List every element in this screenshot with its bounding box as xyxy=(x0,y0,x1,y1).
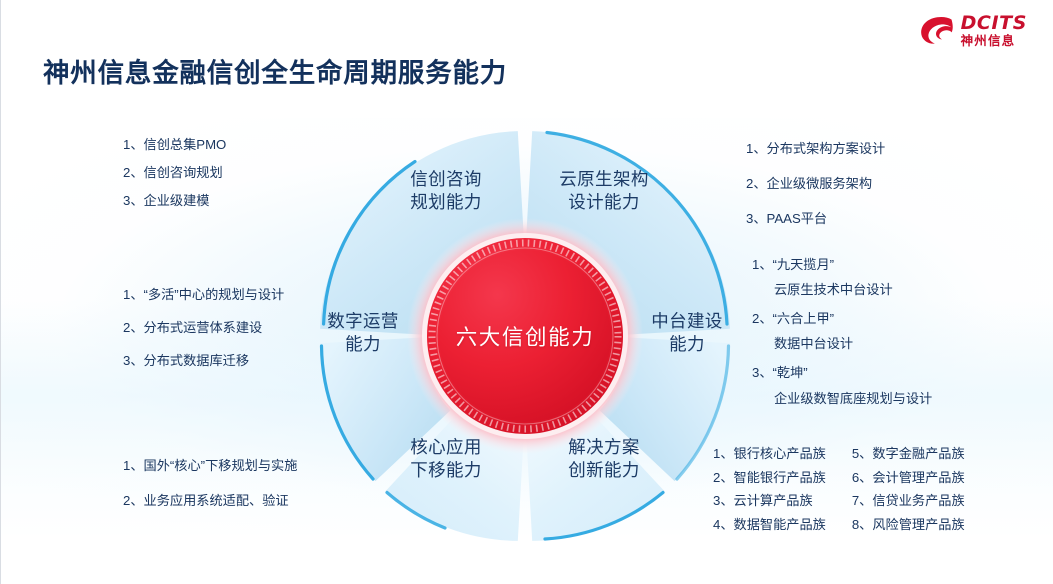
list-item: 2、 智能银行产品族 xyxy=(713,471,826,484)
swoosh-icon xyxy=(920,16,954,46)
bullet-number: 1、 xyxy=(746,142,767,155)
bullet-subtext: 数据中台设计 xyxy=(752,333,932,352)
list-item: 1、 分布式架构方案设计 xyxy=(746,142,885,155)
bullet-text: “多活”中心的规划与设计 xyxy=(144,288,285,301)
bullet-number: 2、 xyxy=(123,494,144,507)
bullet-subtext: 企业级数智底座规划与设计 xyxy=(752,388,932,407)
bullet-number: 1、 xyxy=(123,288,144,301)
bullet-text: 智能银行产品族 xyxy=(734,471,826,484)
logo-english: DCITS xyxy=(961,14,1027,33)
bullet-text: “六合上甲” xyxy=(773,312,933,325)
list-item: 2、 企业级微服务架构 xyxy=(746,177,885,190)
list-item: 3、 PAAS平台 xyxy=(746,212,885,225)
callout-digital-operations: 1、 “多活”中心的规划与设计 2、 分布式运营体系建设 3、 分布式数据库迁移 xyxy=(123,288,284,388)
callout-consulting: 1、 信创总集PMO 2、 信创咨询规划 3、 企业级建模 xyxy=(123,138,226,223)
bullet-number: 3、 xyxy=(746,212,767,225)
list-item: 1、 信创总集PMO xyxy=(123,138,226,151)
list-item: 3、 企业级建模 xyxy=(123,194,226,207)
bullet-number: 8、 xyxy=(852,518,873,531)
bullet-number: 1、 xyxy=(123,138,144,151)
list-item: 8、 风险管理产品族 xyxy=(852,518,965,531)
list-item: 1、 “多活”中心的规划与设计 xyxy=(123,288,284,301)
bullet-text: 会计管理产品族 xyxy=(872,471,964,484)
bullet-number: 3、 xyxy=(752,366,773,379)
bullet-text: 业务应用系统适配、验证 xyxy=(144,494,298,507)
segment-label-core-downshift: 核心应用 下移能力 xyxy=(371,436,521,483)
callout-cloud-native: 1、 分布式架构方案设计 2、 企业级微服务架构 3、 PAAS平台 xyxy=(746,142,885,248)
logo-chinese: 神州信息 xyxy=(961,35,1027,48)
solutions-column-1: 1、 银行核心产品族 2、 智能银行产品族 3、 云计算产品族 4、 数据智能产… xyxy=(713,447,826,542)
bullet-text: 数据智能产品族 xyxy=(734,518,826,531)
bullet-number: 3、 xyxy=(123,354,144,367)
bullet-number: 2、 xyxy=(752,312,773,325)
segment-label-cloud-native: 云原生架构 设计能力 xyxy=(529,168,679,215)
bullet-text: 分布式数据库迁移 xyxy=(144,354,285,367)
list-item: 7、 信贷业务产品族 xyxy=(852,494,965,507)
segment-label-solutions: 解决方案 创新能力 xyxy=(529,436,679,483)
bullet-number: 7、 xyxy=(852,494,873,507)
bullet-number: 2、 xyxy=(123,321,144,334)
capability-donut-diagram: 六大信创能力 信创咨询 规划能力 云原生架构 设计能力 数字运营 能力 中台建设… xyxy=(295,106,755,566)
list-item: 1、 国外“核心”下移规划与实施 xyxy=(123,459,297,472)
list-item: 2、 “六合上甲” xyxy=(752,312,932,325)
bullet-number: 1、 xyxy=(752,258,773,271)
list-item: 2、 信创咨询规划 xyxy=(123,166,226,179)
bullet-text: 分布式运营体系建设 xyxy=(144,321,285,334)
bullet-text: 企业级建模 xyxy=(144,194,227,207)
solutions-column-2: 5、 数字金融产品族 6、 会计管理产品族 7、 信贷业务产品族 8、 风险管理… xyxy=(852,447,965,542)
bullet-text: 信创总集PMO xyxy=(144,138,227,151)
bullet-number: 4、 xyxy=(713,518,734,531)
slide-canvas: DCITS 神州信息 神州信息金融信创全生命周期服务能力 xyxy=(0,0,1053,584)
bullet-text: “乾坤” xyxy=(773,366,933,379)
bullet-number: 5、 xyxy=(852,447,873,460)
bullet-text: 银行核心产品族 xyxy=(734,447,826,460)
list-item: 2、 分布式运营体系建设 xyxy=(123,321,284,334)
bullet-text: “九天揽月” xyxy=(773,258,933,271)
bullet-text: 信创咨询规划 xyxy=(144,166,227,179)
list-item: 4、 数据智能产品族 xyxy=(713,518,826,531)
hub-label: 六大信创能力 xyxy=(456,321,595,352)
bullet-text: 分布式架构方案设计 xyxy=(767,142,886,155)
bullet-number: 6、 xyxy=(852,471,873,484)
segment-label-midplatform: 中台建设 能力 xyxy=(627,310,747,357)
list-item: 6、 会计管理产品族 xyxy=(852,471,965,484)
bullet-number: 3、 xyxy=(713,494,734,507)
bullet-text: 风险管理产品族 xyxy=(872,518,964,531)
list-item: 3、 “乾坤” xyxy=(752,366,932,379)
callout-midplatform: 1、 “九天揽月” 云原生技术中台设计 2、 “六合上甲” 数据中台设计 3、 … xyxy=(752,258,932,421)
list-item: 3、 云计算产品族 xyxy=(713,494,826,507)
bullet-text: 云计算产品族 xyxy=(734,494,826,507)
bullet-text: 国外“核心”下移规划与实施 xyxy=(144,459,298,472)
bullet-number: 2、 xyxy=(746,177,767,190)
list-item: 1、 银行核心产品族 xyxy=(713,447,826,460)
bullet-text: PAAS平台 xyxy=(767,212,886,225)
bullet-number: 1、 xyxy=(123,459,144,472)
list-item: 3、 分布式数据库迁移 xyxy=(123,354,284,367)
list-item: 5、 数字金融产品族 xyxy=(852,447,965,460)
page-title: 神州信息金融信创全生命周期服务能力 xyxy=(43,51,507,90)
list-item: 1、 “九天揽月” xyxy=(752,258,932,271)
bullet-text: 企业级微服务架构 xyxy=(767,177,886,190)
segment-label-digital-operations: 数字运营 能力 xyxy=(303,310,423,357)
segment-label-consulting: 信创咨询 规划能力 xyxy=(371,168,521,215)
bullet-subtext: 云原生技术中台设计 xyxy=(752,279,932,298)
list-item: 2、 业务应用系统适配、验证 xyxy=(123,494,297,507)
callout-core-downshift: 1、 国外“核心”下移规划与实施 2、 业务应用系统适配、验证 xyxy=(123,459,297,529)
bullet-text: 数字金融产品族 xyxy=(872,447,964,460)
bullet-number: 1、 xyxy=(713,447,734,460)
bullet-number: 2、 xyxy=(713,471,734,484)
logo-wordmark: DCITS 神州信息 xyxy=(961,14,1027,48)
bullet-number: 2、 xyxy=(123,166,144,179)
bullet-text: 信贷业务产品族 xyxy=(872,494,964,507)
brand-logo: DCITS 神州信息 xyxy=(920,14,1027,48)
bullet-number: 3、 xyxy=(123,194,144,207)
callout-solutions: 1、 银行核心产品族 2、 智能银行产品族 3、 云计算产品族 4、 数据智能产… xyxy=(713,447,965,542)
